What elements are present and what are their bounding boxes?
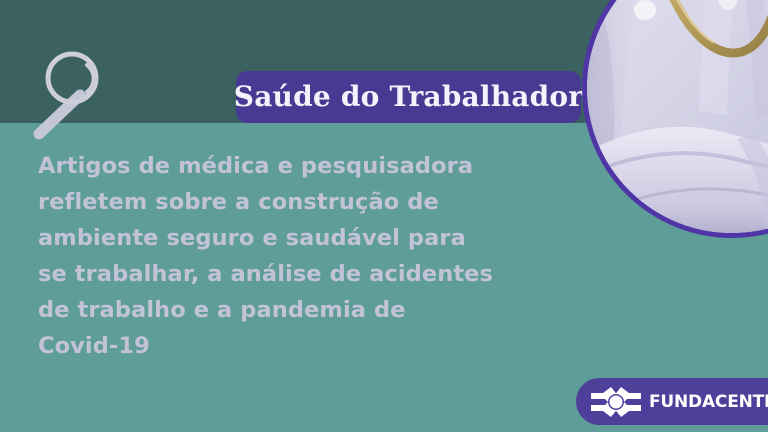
magnifier-icon	[24, 44, 114, 144]
body-line: refletem sobre a construção de	[38, 184, 508, 220]
body-line: de trabalho e a pandemia de	[38, 292, 508, 328]
title-badge: Saúde do Trabalhador	[236, 71, 581, 123]
fundacentro-eye-hands-icon	[589, 385, 643, 419]
promo-banner: Saúde do Trabalhador Artigos de médica e…	[0, 0, 768, 432]
fundacentro-logo[interactable]: FUNDACENTRO	[576, 378, 768, 425]
title-badge-label: Saúde do Trabalhador	[234, 83, 583, 111]
body-paragraph: Artigos de médica e pesquisadora reflete…	[38, 148, 508, 364]
body-line: ambiente seguro e saudável para	[38, 220, 508, 256]
body-line: Artigos de médica e pesquisadora	[38, 148, 508, 184]
body-line: Covid-19	[38, 328, 508, 364]
fundacentro-wordmark: FUNDACENTRO	[649, 392, 768, 412]
body-line: se trabalhar, a análise de acidentes	[38, 256, 508, 292]
